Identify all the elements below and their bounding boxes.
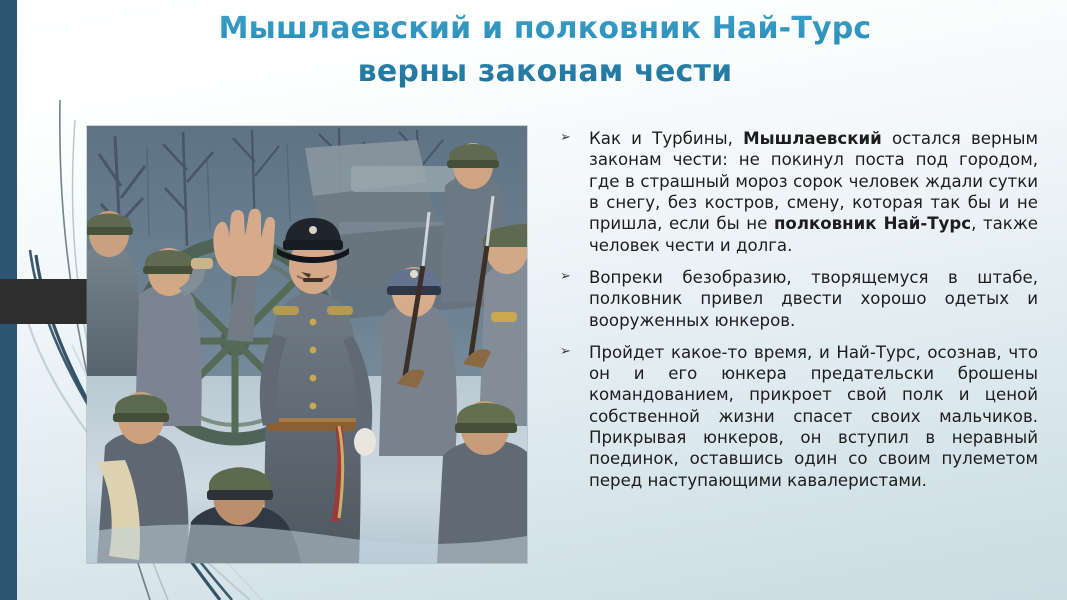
- bullet-arrow-icon: ➢: [560, 267, 589, 287]
- dark-accent-block: [0, 279, 88, 324]
- presentation-slide: Мышлаевский и полковник Най-Турс верны з…: [0, 0, 1067, 600]
- bullet-text-3: Пройдет какое-то время, и Най-Турс, осоз…: [589, 342, 1038, 491]
- bullet-text-2: Вопреки безобразию, творящемуся в штабе,…: [589, 267, 1038, 331]
- slide-title-line-1: Мышлаевский и полковник Най-Турс: [150, 8, 940, 51]
- illustration-artwork: [87, 126, 527, 563]
- list-item: ➢ Как и Турбины, Мышлаевский остался вер…: [560, 128, 1038, 256]
- illustration-soldiers-cannon: [87, 126, 527, 563]
- bullet-list: ➢ Как и Турбины, Мышлаевский остался вер…: [560, 128, 1038, 491]
- bullet-text-1: Как и Турбины, Мышлаевский остался верны…: [589, 128, 1038, 256]
- slide-title-line-2: верны законам чести: [150, 51, 940, 94]
- list-item: ➢ Пройдет какое-то время, и Най-Турс, ос…: [560, 342, 1038, 491]
- bullet-arrow-icon: ➢: [560, 342, 589, 362]
- slide-title: Мышлаевский и полковник Най-Турс верны з…: [150, 8, 940, 93]
- bullet-arrow-icon: ➢: [560, 128, 589, 148]
- list-item: ➢ Вопреки безобразию, творящемуся в штаб…: [560, 267, 1038, 331]
